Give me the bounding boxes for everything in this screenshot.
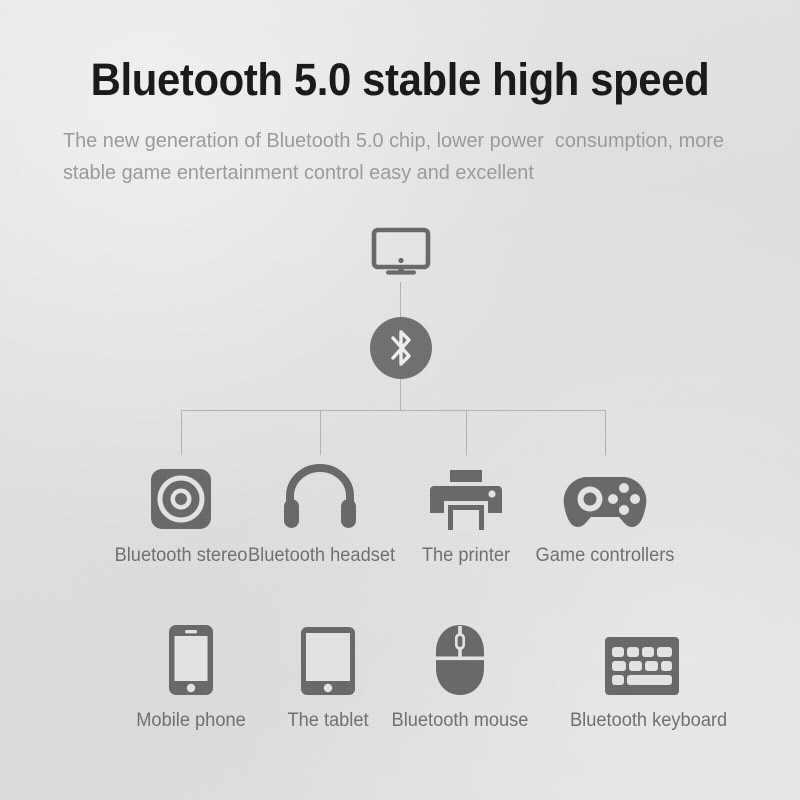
mobile-phone-icon bbox=[116, 620, 266, 696]
connector-monitor-to-hub bbox=[400, 282, 401, 318]
connector-bus bbox=[181, 410, 606, 411]
device-label: Mobile phone bbox=[119, 710, 263, 732]
device-mobile-phone[interactable]: Mobile phone bbox=[116, 620, 266, 732]
connector-drop-4 bbox=[605, 410, 606, 455]
game-controller-icon bbox=[530, 455, 680, 531]
keyboard-icon bbox=[567, 620, 717, 696]
device-label: The printer bbox=[394, 545, 538, 567]
monitor-node bbox=[361, 226, 441, 278]
device-label: Bluetooth mouse bbox=[388, 710, 532, 732]
headphones-icon bbox=[245, 455, 395, 531]
bluetooth-icon bbox=[384, 326, 418, 370]
device-label: Bluetooth headset bbox=[248, 545, 392, 567]
connector-hub-trunk bbox=[400, 379, 401, 411]
poster-canvas: Bluetooth 5.0 stable high speed The new … bbox=[0, 0, 800, 800]
speaker-icon bbox=[106, 455, 256, 531]
device-tree-diagram: Bluetooth stereo Bluetooth headset bbox=[0, 0, 800, 800]
printer-icon bbox=[391, 455, 541, 531]
device-printer[interactable]: The printer bbox=[391, 455, 541, 567]
device-bluetooth-stereo[interactable]: Bluetooth stereo bbox=[106, 455, 256, 567]
device-bluetooth-keyboard[interactable]: Bluetooth keyboard bbox=[567, 620, 717, 732]
device-tablet[interactable]: The tablet bbox=[253, 620, 403, 732]
tablet-icon bbox=[253, 620, 403, 696]
device-game-controllers[interactable]: Game controllers bbox=[530, 455, 680, 567]
device-label: Bluetooth stereo bbox=[109, 545, 253, 567]
bluetooth-hub[interactable] bbox=[370, 317, 432, 379]
connector-drop-1 bbox=[181, 410, 182, 455]
connector-drop-3 bbox=[466, 410, 467, 455]
device-bluetooth-mouse[interactable]: Bluetooth mouse bbox=[385, 620, 535, 732]
monitor-icon bbox=[370, 227, 432, 277]
device-label: Game controllers bbox=[533, 545, 677, 567]
device-bluetooth-headset[interactable]: Bluetooth headset bbox=[245, 455, 395, 567]
device-label: Bluetooth keyboard bbox=[570, 710, 714, 732]
mouse-icon bbox=[385, 620, 535, 696]
connector-drop-2 bbox=[320, 410, 321, 455]
device-label: The tablet bbox=[256, 710, 400, 732]
